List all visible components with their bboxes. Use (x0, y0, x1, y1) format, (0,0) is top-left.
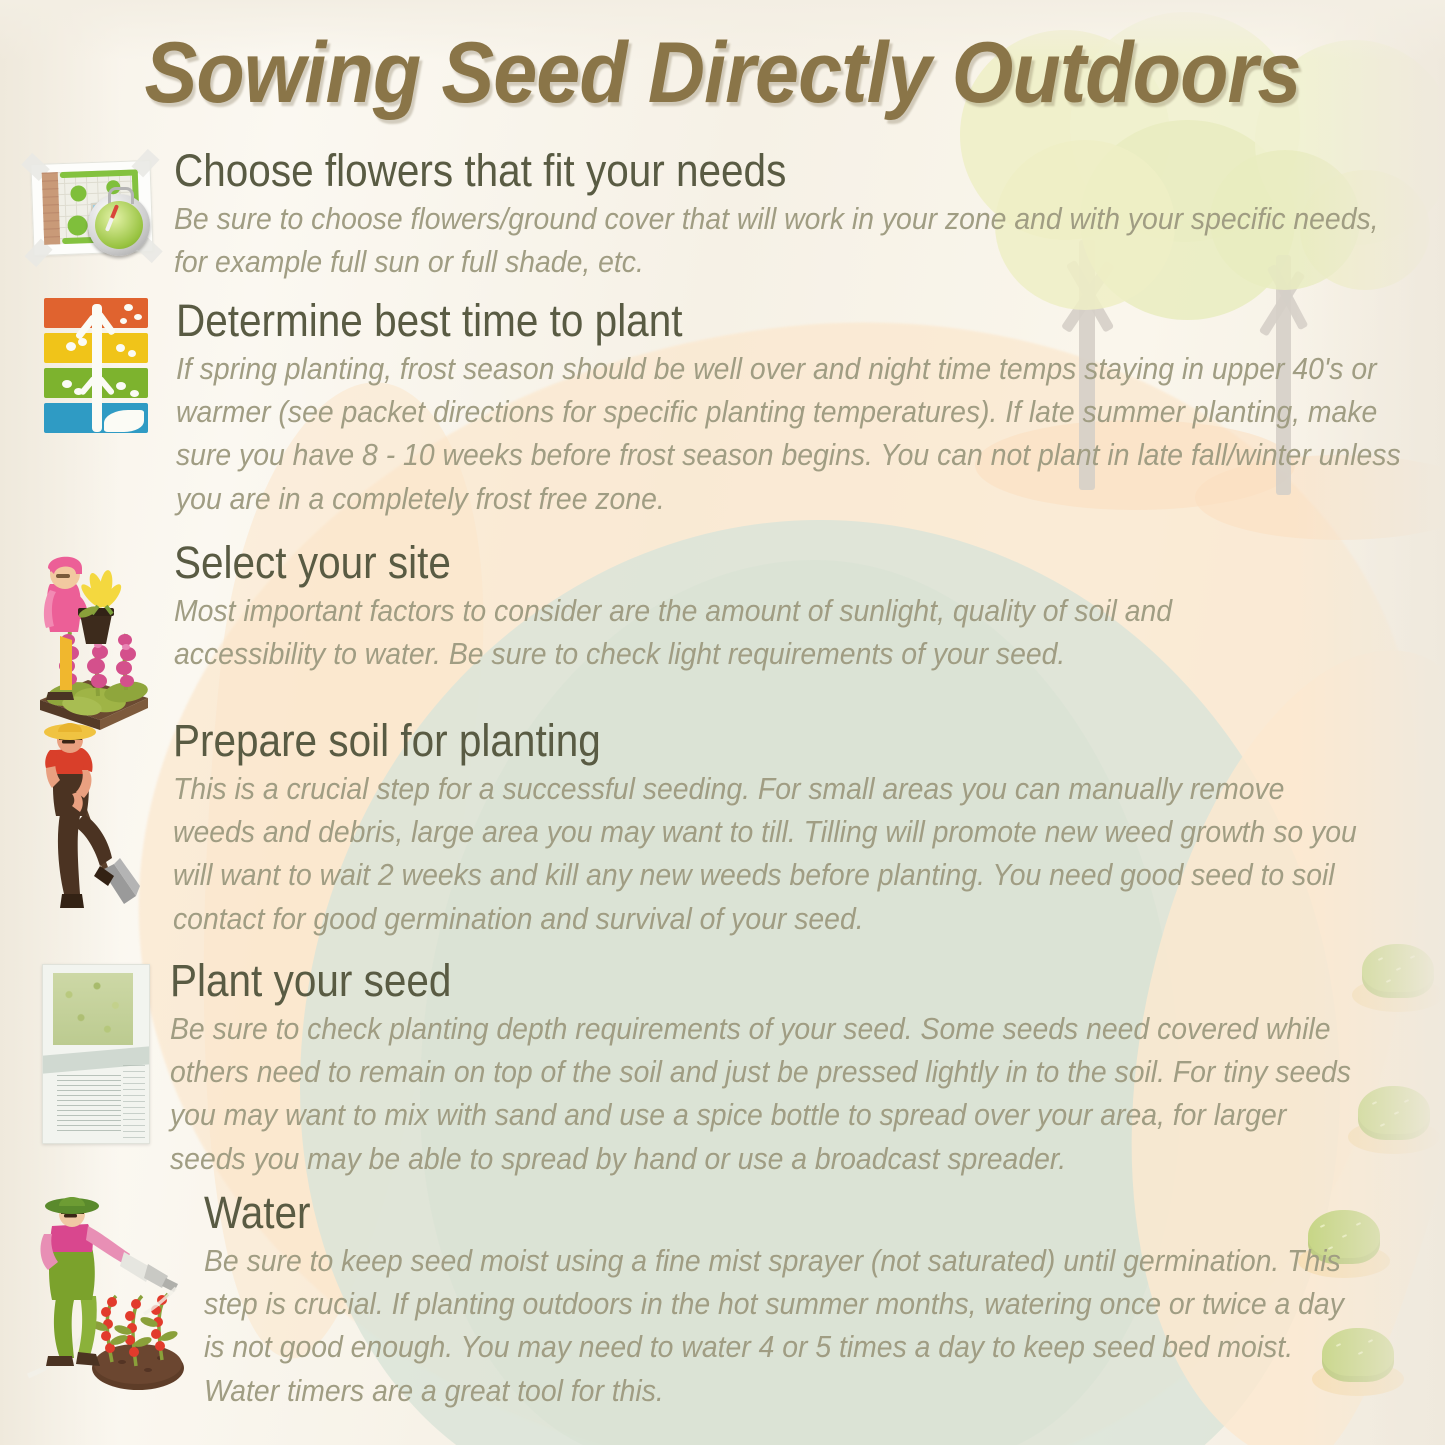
gardener-flower-illustration (26, 540, 156, 730)
step-prepare-soil: Prepare soil for planting This is a cruc… (26, 718, 1416, 941)
step-body: Most important factors to consider are t… (174, 590, 1290, 677)
gardener-watering-illustration (26, 1190, 186, 1405)
step-body: Be sure to check planting depth requirem… (170, 1008, 1351, 1181)
step-water: Water Be sure to keep seed moist using a… (26, 1190, 1416, 1413)
step-heading: Prepare soil for planting (173, 718, 1289, 764)
gardener-shovel-illustration (26, 718, 151, 923)
step-body: Be sure to keep seed moist using a fine … (204, 1240, 1367, 1413)
poster-title: Sowing Seed Directly Outdoors (58, 24, 1387, 123)
gardener-watering-icon (26, 1190, 186, 1405)
step-body: Be sure to choose flowers/ground cover t… (174, 198, 1402, 285)
step-plant-seed: Plant your seed Be sure to check plantin… (40, 958, 1430, 1181)
seed-packet-icon (40, 958, 150, 1148)
step-select-site: Select your site Most important factors … (26, 540, 1416, 730)
step-determine-time: Determine best time to plant If spring p… (44, 298, 1434, 521)
step-choose-flowers: Choose flowers that fit your needs Be su… (26, 148, 1416, 284)
step-heading: Determine best time to plant (176, 298, 1301, 344)
step-heading: Plant your seed (170, 958, 1295, 1004)
gardener-with-shovel-icon (26, 718, 151, 923)
four-seasons-tree-icon (44, 298, 148, 434)
step-body: If spring planting, frost season should … (176, 348, 1404, 521)
step-body: This is a crucial step for a successful … (173, 768, 1363, 941)
gardener-with-potted-flower-icon (26, 540, 156, 730)
garden-plan-compass-icon (26, 148, 156, 266)
step-heading: Choose flowers that fit your needs (174, 148, 1281, 194)
step-heading: Select your site (174, 540, 1290, 586)
step-heading: Water (204, 1190, 1322, 1236)
infographic-poster: Sowing Seed Directly Outdoors (0, 0, 1445, 1445)
